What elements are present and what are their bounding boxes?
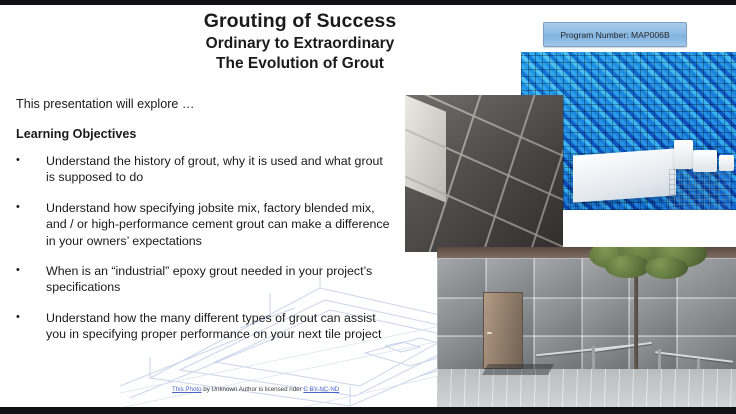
license-link[interactable]: C BY-NC-ND bbox=[303, 386, 339, 393]
subtitle-line-2: The Evolution of Grout bbox=[120, 54, 480, 74]
list-item-text: When is an “industrial” epoxy grout need… bbox=[46, 263, 394, 296]
learning-objectives-heading: Learning Objectives bbox=[16, 127, 136, 141]
learning-objectives-list: • Understand the history of grout, why i… bbox=[16, 153, 394, 356]
candle bbox=[674, 140, 693, 168]
list-item: • Understand how the many different type… bbox=[16, 310, 394, 343]
photo-shading bbox=[405, 95, 563, 252]
program-number-label: Program Number: MAP006B bbox=[560, 30, 669, 40]
list-item: • When is an “industrial” epoxy grout ne… bbox=[16, 263, 394, 296]
foliage-cluster bbox=[605, 255, 651, 278]
list-item-text: Understand how the many different types … bbox=[46, 310, 394, 343]
candle bbox=[693, 150, 717, 172]
gray-stone-facade-photo bbox=[437, 247, 736, 407]
list-item-text: Understand the history of grout, why it … bbox=[46, 153, 394, 186]
intro-text: This presentation will explore … bbox=[16, 97, 195, 111]
photo-credit: This Photo by Unknown Author is licensed… bbox=[172, 386, 339, 393]
list-item: • Understand the history of grout, why i… bbox=[16, 153, 394, 186]
bullet-marker-icon: • bbox=[16, 153, 46, 186]
stone-slab bbox=[581, 297, 631, 337]
list-item: • Understand how specifying jobsite mix,… bbox=[16, 200, 394, 249]
stone-slab bbox=[676, 297, 736, 337]
stone-slab bbox=[533, 297, 583, 337]
stone-slab bbox=[437, 258, 487, 298]
bullet-marker-icon: • bbox=[16, 200, 46, 249]
white-towel bbox=[573, 148, 676, 203]
stone-slab bbox=[533, 258, 583, 298]
this-photo-link[interactable]: This Photo bbox=[172, 386, 202, 393]
page-title: Grouting of Success bbox=[120, 10, 480, 33]
bullet-marker-icon: • bbox=[16, 310, 46, 343]
stone-slab bbox=[437, 297, 487, 337]
list-item-text: Understand how specifying jobsite mix, f… bbox=[46, 200, 394, 249]
foliage-cluster bbox=[645, 257, 688, 279]
bullet-marker-icon: • bbox=[16, 263, 46, 296]
candle bbox=[719, 155, 734, 171]
subtitle-line-1: Ordinary to Extraordinary bbox=[120, 34, 480, 54]
program-number-badge: Program Number: MAP006B bbox=[543, 22, 687, 47]
title-block: Grouting of Success Ordinary to Extraord… bbox=[120, 10, 480, 74]
dark-floor-tile-photo bbox=[405, 95, 563, 252]
credit-middle-text: by Unknown Author is licensed nder bbox=[202, 386, 304, 393]
metal-door bbox=[483, 292, 522, 369]
ground-shadow bbox=[482, 364, 554, 375]
letterbox-bar-bottom bbox=[0, 407, 736, 414]
tree-canopy bbox=[581, 247, 716, 285]
presentation-slide: Grouting of Success Ordinary to Extraord… bbox=[0, 0, 736, 414]
side-stool bbox=[669, 166, 729, 210]
letterbox-bar-top bbox=[0, 0, 736, 5]
